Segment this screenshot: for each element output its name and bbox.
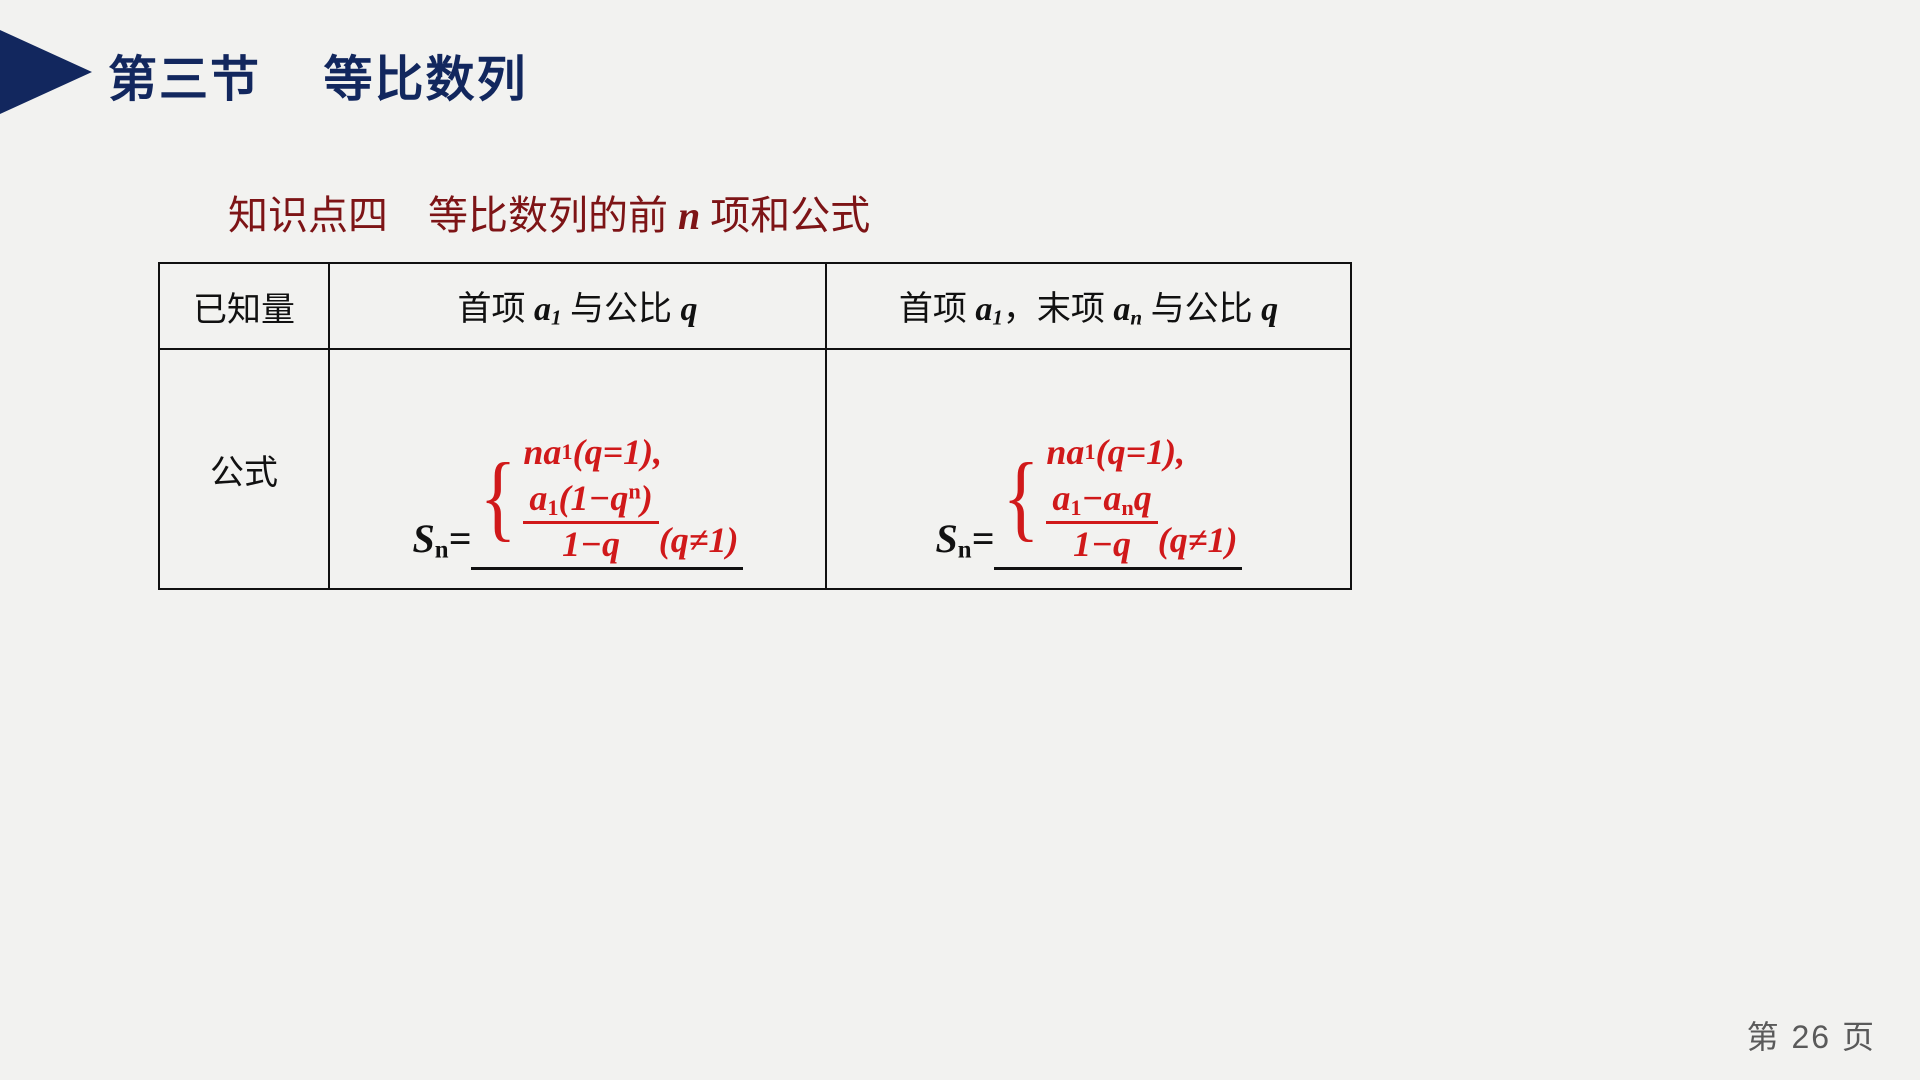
fraction-denominator-col1: 1−q [556, 524, 626, 563]
col2-a: a [975, 291, 992, 328]
left-brace-icon: { [1003, 460, 1040, 535]
formula-cell-col2: Sn= { na1(q=1), a1−anq 1−q [826, 349, 1351, 589]
sn-lead-col2: Sn= [935, 515, 994, 570]
col1-var-a1: a1 [534, 291, 562, 328]
answer-blank-col1: { na1(q=1), a1(1−qn) 1−q (q≠1) [471, 431, 742, 570]
num-minus-col2: − [1082, 478, 1104, 518]
table-row-label-formula: 公式 [159, 349, 329, 589]
case1-expr-col1: na [523, 431, 561, 473]
col2-var-q: q [1261, 291, 1278, 328]
col2-prefix: 首项 [899, 291, 976, 328]
num-a1-col2: a [1052, 478, 1070, 518]
fraction-col2: a1−anq 1−q [1046, 479, 1157, 563]
fraction-denominator-col2: 1−q [1067, 524, 1137, 563]
fraction-numerator-col2: a1−anq [1046, 479, 1157, 524]
col1-prefix: 首项 [457, 291, 534, 328]
sn-sub-col1: n [435, 536, 449, 563]
cases-row-col1: { na1(q=1), a1(1−qn) 1−q (q≠1) [475, 431, 738, 563]
case1-cond-col1: (q=1), [573, 431, 663, 473]
formula-table: 已知量 首项 a1 与公比 q 首项 a1，末项 an 与公比 q 公式 Sn=… [158, 262, 1352, 590]
den-text-col1: 1− [562, 524, 602, 564]
sn-s-col1: S [412, 516, 434, 561]
table-row: 已知量 首项 a1 与公比 q 首项 a1，末项 an 与公比 q [159, 263, 1351, 349]
answer-blank-col2: { na1(q=1), a1−anq 1−q (q≠1) [994, 431, 1241, 570]
case-line-2-col2: a1−anq 1−q (q≠1) [1046, 479, 1237, 563]
navy-arrow-icon [0, 30, 92, 114]
col1-a: a [534, 291, 551, 328]
subtitle-text-before: 知识点四 等比数列的前 [228, 193, 678, 238]
case1-sub-col1: 1 [561, 439, 572, 465]
num-rest-col1: (1− [559, 478, 611, 518]
cases-col2: na1(q=1), a1−anq 1−q (q≠1) [1046, 431, 1237, 563]
num-a-sub-col1: 1 [547, 495, 558, 520]
num-a-col1: a [529, 478, 547, 518]
col1-a-sub: 1 [551, 306, 562, 330]
case1-expr-col2: na [1046, 431, 1084, 473]
formula-cell-col1: Sn= { na1(q=1), a1(1−qn) 1−q [329, 349, 826, 589]
col2-suffix: 与公比 [1142, 291, 1261, 328]
slide-canvas: 第三节 等比数列 知识点四 等比数列的前 n 项和公式 已知量 首项 a1 与公… [0, 0, 1920, 1080]
den-q-col1: q [602, 524, 620, 564]
table-row: 公式 Sn= { na1(q=1), [159, 349, 1351, 589]
case-line-2-col1: a1(1−qn) 1−q (q≠1) [523, 479, 738, 563]
case-line-1-col1: na1(q=1), [523, 431, 738, 473]
col2-a2: a [1113, 291, 1130, 328]
num-a2-sub-col2: n [1121, 495, 1133, 520]
slide-header: 第三节 等比数列 [0, 18, 1920, 118]
num-q-sup-col1: n [628, 479, 640, 504]
num-close-col1: ) [641, 478, 653, 518]
left-brace-icon: { [480, 460, 517, 535]
case1-sub-col2: 1 [1084, 439, 1095, 465]
page-footer: 第 26 页 [1747, 1012, 1876, 1058]
num-a2-col2: a [1103, 478, 1121, 518]
formula-block-col1: Sn= { na1(q=1), a1(1−qn) 1−q [330, 350, 825, 588]
formula-block-col2: Sn= { na1(q=1), a1−anq 1−q [827, 350, 1350, 588]
col2-a-sub: 1 [992, 306, 1003, 330]
col1-var-q: q [681, 291, 698, 328]
sn-lead-col1: Sn= [412, 515, 471, 570]
sn-eq-col1: = [449, 516, 472, 561]
case2-cond-col2: (q≠1) [1158, 519, 1238, 563]
table-header-col1: 首项 a1 与公比 q [329, 263, 826, 349]
num-q-col2: q [1134, 478, 1152, 518]
case-line-1-col2: na1(q=1), [1046, 431, 1237, 473]
col2-a2-sub: n [1130, 306, 1142, 330]
sn-eq-col2: = [972, 516, 995, 561]
sn-sub-col2: n [958, 536, 972, 563]
sn-s-col2: S [935, 516, 957, 561]
den-q-col2: q [1113, 524, 1131, 564]
subtitle-text-after: 项和公式 [700, 193, 870, 238]
page-title: 第三节 等比数列 [108, 40, 527, 111]
cases-col1: na1(q=1), a1(1−qn) 1−q (q≠1) [523, 431, 738, 563]
table-header-col2: 首项 a1，末项 an 与公比 q [826, 263, 1351, 349]
knowledge-point-subtitle: 知识点四 等比数列的前 n 项和公式 [228, 183, 870, 241]
num-a1-sub-col2: 1 [1070, 495, 1081, 520]
subtitle-variable-n: n [678, 193, 700, 238]
fraction-numerator-col1: a1(1−qn) [523, 479, 658, 524]
case2-cond-col1: (q≠1) [659, 519, 739, 563]
fraction-col1: a1(1−qn) 1−q [523, 479, 658, 563]
table-header-label-known: 已知量 [159, 263, 329, 349]
cases-row-col2: { na1(q=1), a1−anq 1−q (q≠1) [998, 431, 1237, 563]
col2-var-a1: a1 [975, 291, 1003, 328]
num-q-col1: q [610, 478, 628, 518]
col1-middle: 与公比 [562, 291, 681, 328]
col2-var-an: an [1113, 291, 1142, 328]
den-text-col2: 1− [1073, 524, 1113, 564]
col2-middle: ，末项 [1003, 291, 1114, 328]
case1-cond-col2: (q=1), [1096, 431, 1186, 473]
